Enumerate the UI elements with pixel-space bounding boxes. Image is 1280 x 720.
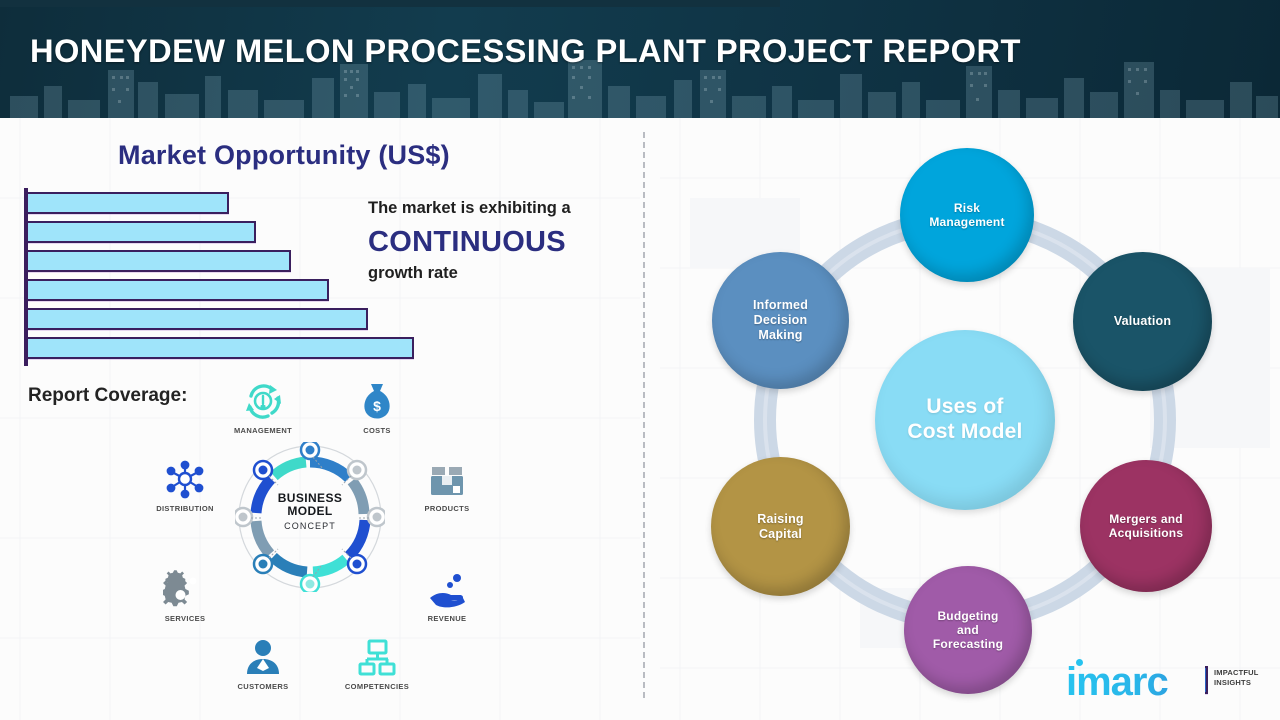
growth-blurb: The market is exhibiting a CONTINUOUS gr… <box>368 198 632 283</box>
node-informed-decision-making[interactable]: Informed Decision Making <box>712 252 849 389</box>
logo-tagline: IMPACTFUL INSIGHTS <box>1214 668 1259 688</box>
budgeting-line3: Forecasting <box>933 637 1003 651</box>
blurb-line-1: The market is exhibiting a <box>368 198 632 219</box>
informed-line2: Decision <box>754 313 808 328</box>
bar-3 <box>28 279 329 301</box>
node-valuation[interactable]: Valuation <box>1073 252 1212 391</box>
bm-label-management: MANAGEMENT <box>218 426 308 435</box>
bm-label-products: PRODUCTS <box>402 504 492 513</box>
bm-item-costs: $ COSTS <box>332 378 422 435</box>
bm-label-customers: CUSTOMERS <box>218 682 308 691</box>
budgeting-line2: and <box>957 623 979 637</box>
informed-line1: Informed <box>753 298 808 313</box>
node-mergers-and-acquisitions[interactable]: Mergers and Acquisitions <box>1080 460 1212 592</box>
bm-item-customers: CUSTOMERS <box>218 634 308 691</box>
bm-label-revenue: REVENUE <box>402 614 492 623</box>
bar-1 <box>28 221 256 243</box>
raising-capital-line2: Capital <box>759 527 802 542</box>
business-model-diagram: BUSINESS MODEL CONCEPT <box>140 378 470 698</box>
market-opportunity-bar-chart <box>24 188 414 366</box>
bar-4 <box>28 308 368 330</box>
bm-title-line2: MODEL <box>235 505 385 518</box>
bar-2 <box>28 250 291 272</box>
raising-capital-line1: Raising <box>757 512 804 527</box>
bm-label-competencies: COMPETENCIES <box>332 682 422 691</box>
uses-of-cost-model-diagram: Uses of Cost Model Risk Management Valua… <box>660 130 1280 720</box>
logo-tagline-line1: IMPACTFUL <box>1214 668 1259 678</box>
bm-item-revenue: REVENUE <box>402 566 492 623</box>
risk-management-line1: Risk <box>954 201 980 215</box>
bm-label-distribution: DISTRIBUTION <box>140 504 230 513</box>
customer-person-icon <box>218 634 308 678</box>
mergers-line1: Mergers and <box>1109 512 1183 526</box>
nodes-network-icon <box>140 456 230 500</box>
budgeting-line1: Budgeting <box>937 609 998 623</box>
business-model-center-label: BUSINESS MODEL CONCEPT <box>235 442 385 592</box>
bm-item-management: MANAGEMENT <box>218 378 308 435</box>
mergers-line2: Acquisitions <box>1109 526 1183 540</box>
bm-subtitle: CONCEPT <box>235 521 385 531</box>
bm-item-distribution: DISTRIBUTION <box>140 456 230 513</box>
recycle-bulb-icon <box>218 378 308 422</box>
svg-text:$: $ <box>373 398 381 414</box>
logo-dot-icon <box>1076 659 1083 666</box>
node-center-uses-of-cost-model[interactable]: Uses of Cost Model <box>875 330 1055 510</box>
money-bag-icon: $ <box>332 378 422 422</box>
center-label-line2: Cost Model <box>907 420 1022 445</box>
page-title: HONEYDEW MELON PROCESSING PLANT PROJECT … <box>30 33 1021 70</box>
gears-icon <box>140 566 230 610</box>
logo-tagline-line2: INSIGHTS <box>1214 678 1259 688</box>
panel-divider <box>643 132 645 698</box>
blurb-highlight: CONTINUOUS <box>368 223 632 262</box>
node-raising-capital[interactable]: Raising Capital <box>711 457 850 596</box>
imarc-logo[interactable]: imarc IMPACTFUL INSIGHTS <box>1066 662 1266 708</box>
bm-item-competencies: COMPETENCIES <box>332 634 422 691</box>
bm-label-services: SERVICES <box>140 614 230 623</box>
box-package-icon <box>402 456 492 500</box>
node-budgeting-and-forecasting[interactable]: Budgeting and Forecasting <box>904 566 1032 694</box>
bm-item-services: SERVICES <box>140 566 230 623</box>
valuation-label: Valuation <box>1114 314 1171 329</box>
bm-title-line1: BUSINESS <box>235 492 385 505</box>
informed-line3: Making <box>758 328 802 343</box>
network-screens-icon <box>332 634 422 678</box>
blurb-line-3: growth rate <box>368 264 632 283</box>
center-label-line1: Uses of <box>926 395 1003 420</box>
bm-label-costs: COSTS <box>332 426 422 435</box>
hand-coins-icon <box>402 566 492 610</box>
node-risk-management[interactable]: Risk Management <box>900 148 1034 282</box>
logo-divider-bar <box>1205 666 1208 694</box>
bm-item-products: PRODUCTS <box>402 456 492 513</box>
slide-canvas: HONEYDEW MELON PROCESSING PLANT PROJECT … <box>0 0 1280 720</box>
market-opportunity-title: Market Opportunity (US$) <box>118 140 450 171</box>
bar-0 <box>28 192 229 214</box>
header-top-strip <box>0 0 780 7</box>
bar-5 <box>28 337 414 359</box>
header-banner: HONEYDEW MELON PROCESSING PLANT PROJECT … <box>0 0 1280 118</box>
risk-management-line2: Management <box>929 215 1004 229</box>
